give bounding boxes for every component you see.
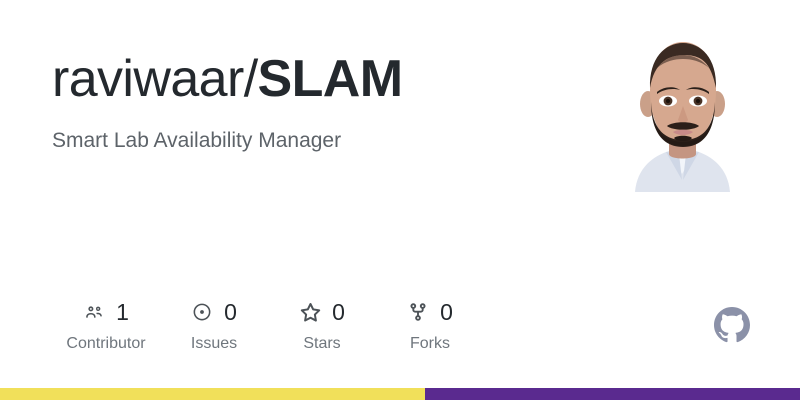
language-segment-purple xyxy=(425,388,800,400)
issue-opened-icon xyxy=(191,301,213,323)
github-mark-icon xyxy=(714,307,750,343)
page-title: raviwaar/SLAM xyxy=(52,52,592,107)
repo-owner: raviwaar/ xyxy=(52,50,258,108)
repo-stats: 1 Contributor 0 Issues xyxy=(52,298,484,352)
stat-contributors: 1 Contributor xyxy=(52,298,160,352)
repo-name: SLAM xyxy=(258,50,403,108)
stat-top-row: 0 xyxy=(299,298,345,326)
people-icon xyxy=(83,301,105,323)
stat-top-row: 0 xyxy=(407,298,453,326)
stat-top-row: 1 xyxy=(83,298,129,326)
language-bar xyxy=(0,388,800,400)
stat-value: 1 xyxy=(116,301,129,324)
stat-stars: 0 Stars xyxy=(268,298,376,352)
stat-value: 0 xyxy=(224,301,237,324)
stat-top-row: 0 xyxy=(191,298,237,326)
stat-label: Contributor xyxy=(66,336,145,352)
stat-value: 0 xyxy=(440,301,453,324)
avatar xyxy=(617,28,748,192)
star-icon xyxy=(299,301,321,323)
title-block: raviwaar/SLAM Smart Lab Availability Man… xyxy=(52,52,592,154)
repo-description: Smart Lab Availability Manager xyxy=(52,127,592,154)
language-segment-yellow xyxy=(0,388,425,400)
stat-label: Forks xyxy=(410,336,450,352)
repo-forked-icon xyxy=(407,301,429,323)
stat-label: Stars xyxy=(303,336,340,352)
avatar-photo-icon xyxy=(617,28,748,192)
repository-social-preview-card: raviwaar/SLAM Smart Lab Availability Man… xyxy=(0,0,800,400)
stat-forks: 0 Forks xyxy=(376,298,484,352)
stat-issues: 0 Issues xyxy=(160,298,268,352)
stat-value: 0 xyxy=(332,301,345,324)
stat-label: Issues xyxy=(191,336,237,352)
